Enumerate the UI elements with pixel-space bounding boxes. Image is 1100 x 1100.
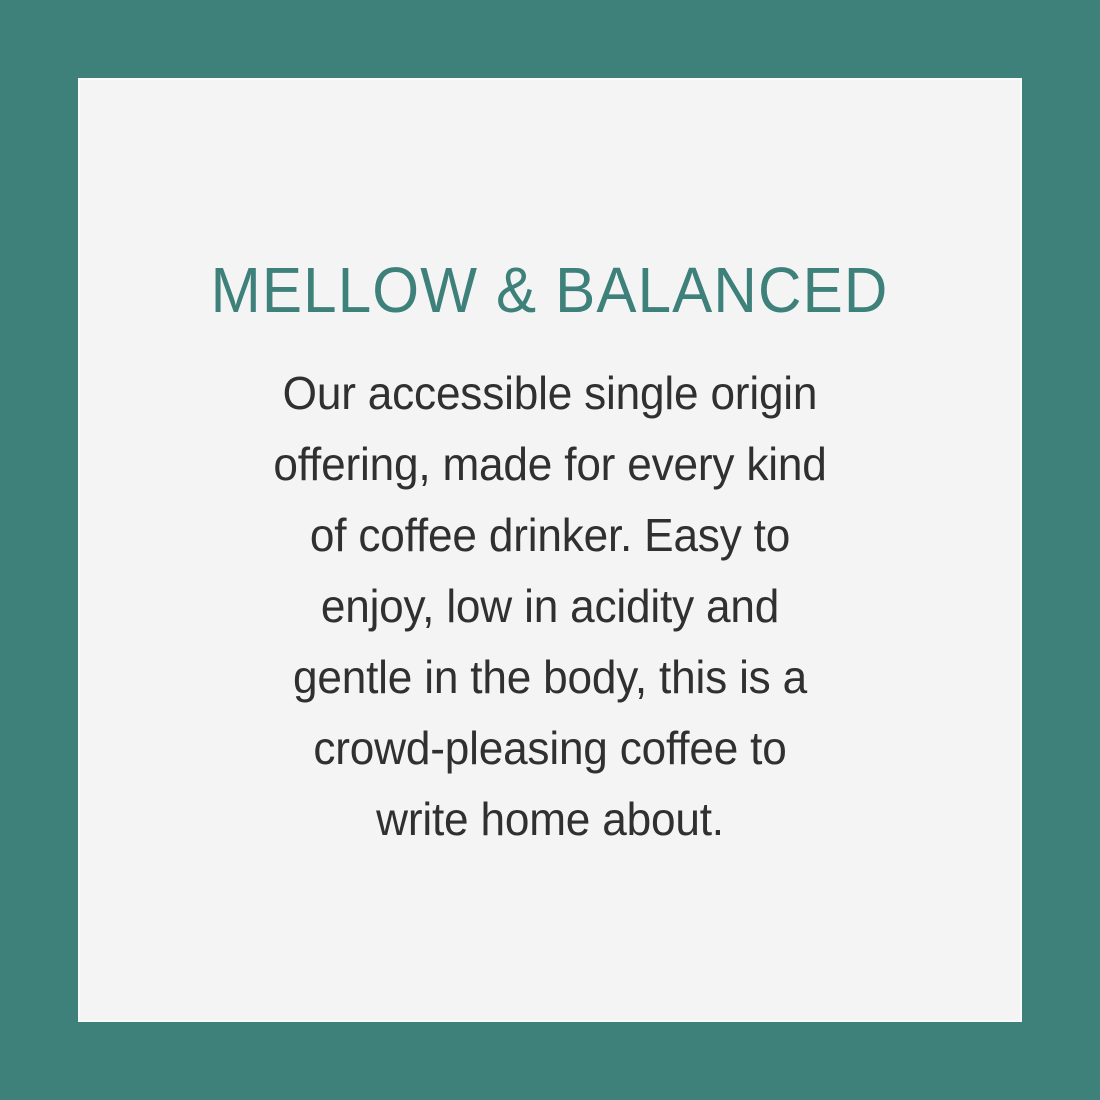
description-line: gentle in the body, this is a <box>243 642 857 713</box>
description-paragraph: Our accessible single origin offering, m… <box>243 358 857 855</box>
description-line: crowd-pleasing coffee to <box>243 713 857 784</box>
description-line: write home about. <box>243 784 857 855</box>
description-line: of coffee drinker. Easy to <box>243 500 857 571</box>
page-title: MELLOW & BALANCED <box>211 258 889 322</box>
description-line: offering, made for every kind <box>243 429 857 500</box>
product-description-card: MELLOW & BALANCED Our accessible single … <box>0 0 1100 1100</box>
description-line: enjoy, low in acidity and <box>243 571 857 642</box>
inner-panel: MELLOW & BALANCED Our accessible single … <box>78 78 1022 1022</box>
description-line: Our accessible single origin <box>243 358 857 429</box>
card-content: MELLOW & BALANCED Our accessible single … <box>80 258 1020 855</box>
